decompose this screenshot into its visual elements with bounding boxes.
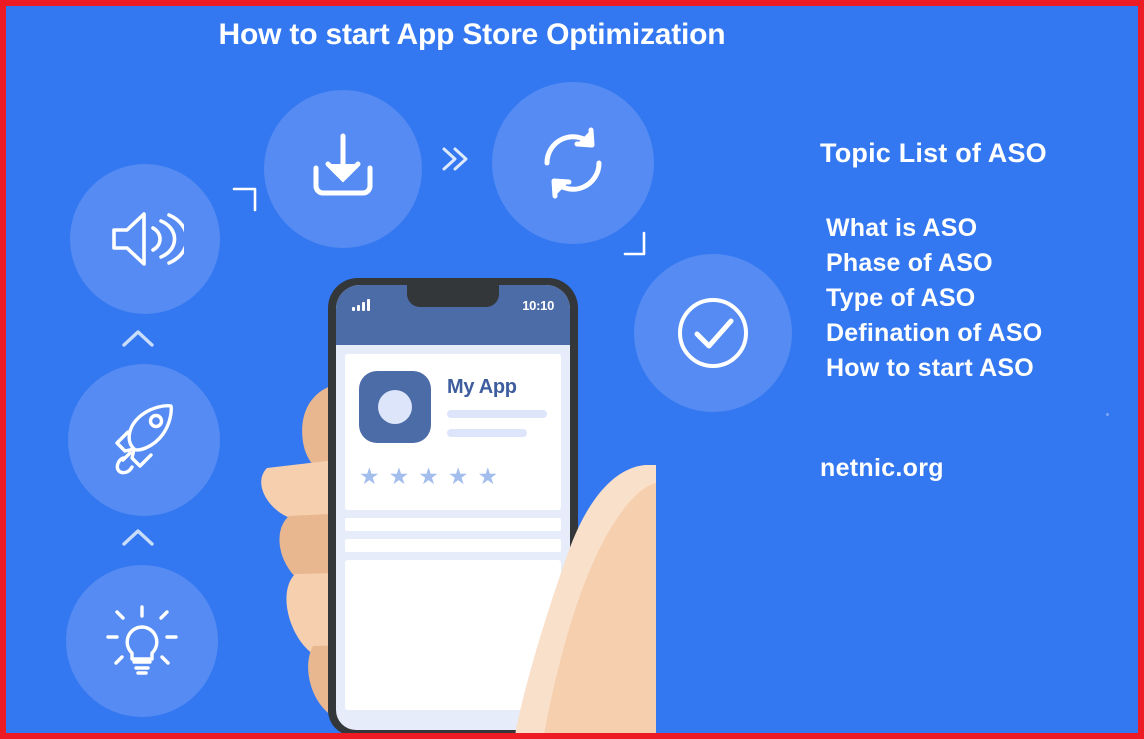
phone-notch	[407, 285, 499, 307]
poster-canvas: How to start App Store Optimization	[6, 6, 1138, 733]
star-icon-3: ★	[418, 465, 439, 488]
star-icon-4: ★	[448, 465, 469, 488]
rocket-icon	[103, 399, 185, 481]
chevron-up-2-icon	[118, 525, 158, 551]
check-circle-icon	[670, 290, 756, 376]
placeholder-line-2	[447, 429, 527, 437]
icon-circle-rocket	[68, 364, 220, 516]
page-title-text: How to start App Store Optimization	[219, 18, 726, 52]
topic-item-3: Type of ASO	[826, 281, 1136, 316]
star-icon-1: ★	[359, 465, 380, 488]
refresh-icon	[530, 120, 616, 206]
app-icon-placeholder	[359, 371, 431, 443]
site-name: netnic.org	[816, 454, 944, 483]
app-name: My App	[447, 376, 547, 399]
topic-list: What is ASO Phase of ASO Type of ASO Def…	[816, 211, 1136, 386]
thumb-illustration	[496, 461, 656, 733]
icon-circle-lightbulb	[66, 565, 218, 717]
icon-circle-download	[264, 90, 422, 248]
topic-panel-heading: Topic List of ASO	[816, 138, 1136, 169]
topic-item-1: What is ASO	[826, 211, 1136, 246]
double-chevron-right-icon	[436, 142, 470, 176]
phone-status-bar: 10:10	[336, 285, 570, 345]
decorative-dot	[1106, 413, 1109, 416]
app-icon-dot	[378, 390, 412, 424]
corner-arrow-1-icon	[228, 184, 262, 218]
app-meta: My App	[447, 371, 547, 437]
placeholder-line-1	[447, 410, 547, 418]
star-icon-2: ★	[389, 465, 410, 488]
signal-bars-icon	[352, 298, 370, 311]
icon-circle-check	[634, 254, 792, 412]
icon-circle-speaker	[70, 164, 220, 314]
topic-panel: Topic List of ASO What is ASO Phase of A…	[816, 138, 1136, 386]
corner-arrow-2-icon	[618, 228, 652, 262]
topic-item-4: Defination of ASO	[826, 316, 1136, 351]
page-title: How to start App Store Optimization	[6, 18, 1138, 52]
topic-item-5: How to start ASO	[826, 351, 1136, 386]
icon-circle-refresh	[492, 82, 654, 244]
speaker-icon	[106, 204, 184, 274]
topic-item-2: Phase of ASO	[826, 246, 1136, 281]
chevron-up-1-icon	[118, 326, 158, 352]
status-clock: 10:10	[522, 298, 554, 313]
app-header-row: My App	[359, 371, 547, 443]
lightbulb-icon	[100, 599, 184, 683]
poster-frame: How to start App Store Optimization	[0, 0, 1144, 739]
download-icon	[302, 128, 384, 210]
